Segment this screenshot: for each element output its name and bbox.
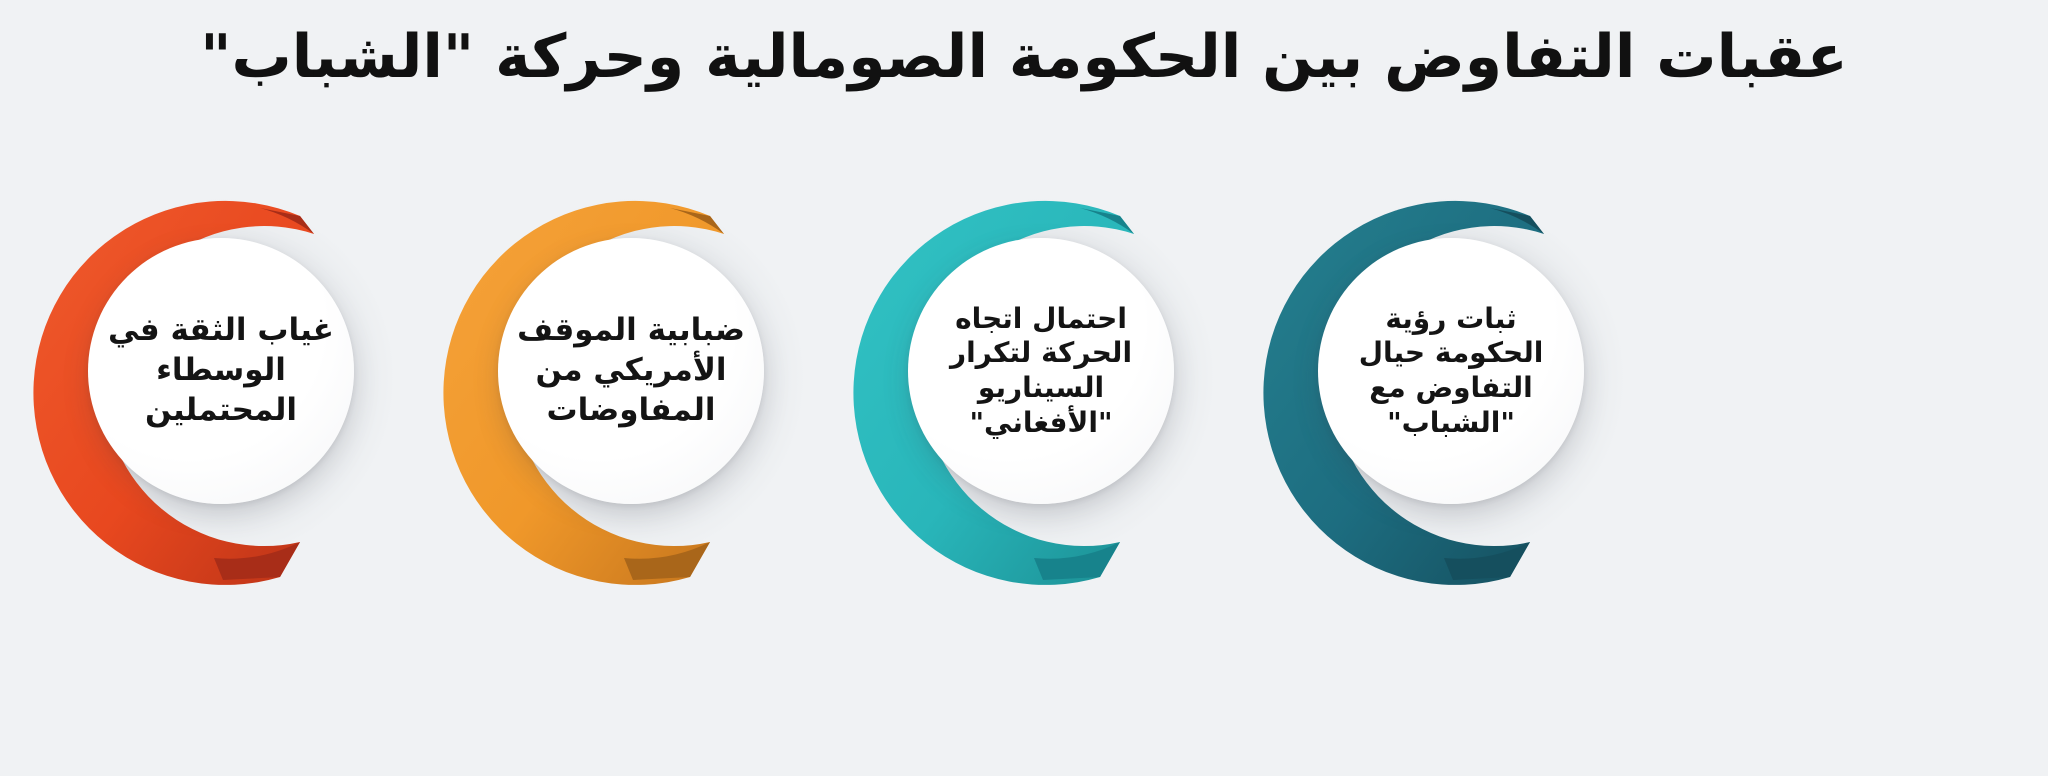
card-label-2: ضبابية الموقف الأمريكي من المفاوضات bbox=[512, 311, 750, 430]
card-label-3: احتمال اتجاه الحركة لتكرار السيناريو "ال… bbox=[922, 302, 1160, 441]
obstacle-card-2[interactable]: ضبابية الموقف الأمريكي من المفاوضات bbox=[424, 160, 824, 590]
inner-circle-3: احتمال اتجاه الحركة لتكرار السيناريو "ال… bbox=[908, 238, 1174, 504]
inner-circle-2: ضبابية الموقف الأمريكي من المفاوضات bbox=[498, 238, 764, 504]
card-row: غياب الثقة في الوسطاء المحتملين bbox=[0, 150, 2048, 776]
inner-circle-1: غياب الثقة في الوسطاء المحتملين bbox=[88, 238, 354, 504]
card-label-4: ثبات رؤية الحكومة حيال التفاوض مع "الشبا… bbox=[1332, 302, 1570, 441]
obstacle-card-4[interactable]: ثبات رؤية الحكومة حيال التفاوض مع "الشبا… bbox=[1244, 160, 1644, 590]
infographic-canvas: عقبات التفاوض بين الحكومة الصومالية وحرك… bbox=[0, 0, 2048, 776]
obstacle-card-1[interactable]: غياب الثقة في الوسطاء المحتملين bbox=[14, 160, 414, 590]
page-title: عقبات التفاوض بين الحكومة الصومالية وحرك… bbox=[0, 20, 2048, 95]
obstacle-card-3[interactable]: احتمال اتجاه الحركة لتكرار السيناريو "ال… bbox=[834, 160, 1234, 590]
inner-circle-4: ثبات رؤية الحكومة حيال التفاوض مع "الشبا… bbox=[1318, 238, 1584, 504]
card-label-1: غياب الثقة في الوسطاء المحتملين bbox=[102, 311, 340, 430]
